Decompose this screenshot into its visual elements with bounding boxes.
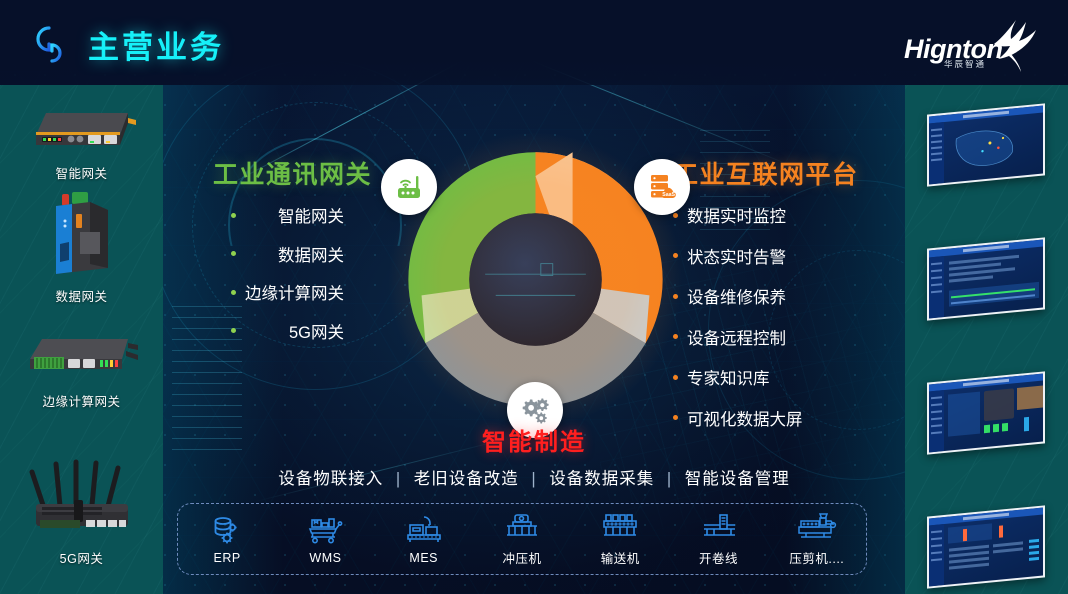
server-cloud-saas-icon: SaaS (645, 170, 679, 204)
gateway-badge-icon[interactable] (381, 159, 437, 215)
equipment-item-wms[interactable]: WMS (276, 514, 374, 565)
dashboard-content (929, 508, 1043, 587)
list-item-label: 5G网关 (245, 319, 344, 343)
5g-gateway-router-device-icon (22, 450, 142, 538)
list-item-label: 智能网关 (245, 203, 344, 227)
product-label: 数据网关 (0, 286, 163, 305)
equipment-label: MES (409, 551, 438, 565)
dashboard-titlebar (929, 240, 1043, 258)
equipment-label: 开卷线 (699, 548, 738, 567)
wifi-router-icon (392, 170, 426, 204)
logo-chinese-name: 华辰智通 (944, 58, 986, 70)
equipment-item-mes[interactable]: MES (375, 514, 473, 565)
product-image (0, 188, 163, 281)
main-content: 工业通讯网关 智能网关 数据网关 边缘计算网关 5G网关 工业互联网平台 数据实… (163, 85, 905, 594)
list-item: 状态实时告警 (673, 244, 803, 268)
saas-badge-icon[interactable]: SaaS (634, 159, 690, 215)
dashboard-content (929, 374, 1043, 453)
interlocking-circles-logo-icon (28, 23, 72, 67)
bullet-dot (231, 213, 236, 218)
header-title-group: 主营业务 (28, 22, 224, 67)
list-item: 数据网关 (231, 242, 344, 266)
product-image (0, 93, 163, 158)
smart-gateway-device-icon (24, 101, 139, 153)
dashboard-sidebar (929, 390, 944, 452)
product-item-data-gateway[interactable]: 数据网关 (0, 188, 163, 305)
production-line-icon (405, 514, 443, 548)
subtitle-separator: | (667, 470, 672, 488)
smart-manufacturing-subtitle: 设备物联接入 | 老旧设备改造 | 设备数据采集 | 智能设备管理 (163, 465, 905, 489)
svg-text:SaaS: SaaS (662, 192, 675, 198)
list-item-label: 状态实时告警 (687, 244, 786, 268)
page-title: 主营业务 (88, 22, 224, 67)
list-item: 边缘计算网关 (231, 280, 344, 304)
bullet-dot (673, 334, 678, 339)
equipment-item-uncoiler[interactable]: 开卷线 (669, 511, 767, 567)
edge-computing-gateway-device-icon (22, 329, 142, 381)
shearing-machine-icon (796, 511, 838, 545)
list-item-label: 数据实时监控 (687, 203, 786, 227)
dashboard-sidebar (929, 256, 944, 318)
equipment-icon-row: ERP WMS (177, 503, 867, 575)
dashboard-sidebar (929, 122, 944, 184)
equipment-label: 输送机 (601, 548, 640, 567)
conveyor-machine-icon (600, 511, 640, 545)
dashboard-content (929, 240, 1043, 319)
product-image (0, 329, 163, 386)
dashboard-map (947, 118, 1031, 179)
list-item-label: 专家知识库 (687, 365, 770, 389)
subtitle-item: 设备数据采集 (549, 470, 654, 488)
dashboard-map-screenshot[interactable] (927, 103, 1045, 186)
database-gear-icon (210, 514, 244, 548)
company-logo: Hignton 华辰智通 (898, 14, 1048, 74)
bullet-dot (673, 375, 678, 380)
equipment-label: 压剪机.... (789, 548, 844, 567)
equipment-item-shearing[interactable]: 压剪机.... (768, 511, 866, 567)
uncoiling-line-icon (700, 511, 738, 545)
bullet-dot (231, 328, 236, 333)
product-label: 5G网关 (0, 548, 163, 567)
sidebar-left-products: 智能网关 数据网关 (0, 85, 163, 594)
product-item-smart-gateway[interactable]: 智能网关 (0, 93, 163, 182)
bullet-dot (673, 213, 678, 218)
subtitle-item: 设备物联接入 (278, 470, 383, 488)
smart-manufacturing-title: 智能制造 (163, 422, 905, 457)
subtitle-item: 老旧设备改造 (414, 470, 519, 488)
list-item: 设备维修保养 (673, 284, 803, 308)
product-label: 智能网关 (0, 163, 163, 182)
product-label: 边缘计算网关 (0, 391, 163, 410)
list-item: 设备远程控制 (673, 325, 803, 349)
list-item: 5G网关 (231, 319, 344, 343)
list-item-label: 数据网关 (245, 242, 344, 266)
stamping-machine-icon (503, 511, 541, 545)
list-item-label: 设备维修保养 (687, 284, 786, 308)
bullet-dot (231, 290, 236, 295)
sidebar-right-dashboards (905, 85, 1068, 594)
equipment-label: ERP (214, 551, 241, 565)
list-item-label: 设备远程控制 (687, 325, 786, 349)
dashboard-titlebar (929, 508, 1043, 526)
dashboard-table-screenshot[interactable] (927, 237, 1045, 320)
data-gateway-device-icon (42, 188, 122, 276)
subtitle-separator: | (396, 470, 401, 488)
left-column-title: 工业通讯网关 (213, 155, 372, 191)
product-image (0, 450, 163, 543)
right-column-title: 工业互联网平台 (673, 155, 859, 191)
dashboard-device-screenshot[interactable] (927, 371, 1045, 454)
business-cycle-donut-chart: SaaS (403, 147, 668, 412)
equipment-item-stamping[interactable]: 冲压机 (473, 511, 571, 567)
equipment-label: 冲压机 (502, 548, 541, 567)
right-column-list: 数据实时监控 状态实时告警 设备维修保养 设备远程控制 专家知识库 可视化数据大… (673, 203, 803, 446)
list-item: 专家知识库 (673, 365, 803, 389)
dashboard-report-screenshot[interactable] (927, 505, 1045, 588)
header-bar: 主营业务 Hignton 华辰智通 (0, 0, 1068, 85)
equipment-item-erp[interactable]: ERP (178, 514, 276, 565)
product-item-edge-gateway[interactable]: 边缘计算网关 (0, 329, 163, 410)
subtitle-item: 智能设备管理 (685, 470, 790, 488)
dashboard-content (929, 106, 1043, 185)
bullet-dot (231, 251, 236, 256)
list-item-label: 边缘计算网关 (245, 280, 344, 304)
warehouse-cart-icon (307, 514, 343, 548)
list-item: 智能网关 (231, 203, 344, 227)
left-column-list: 智能网关 数据网关 边缘计算网关 5G网关 (231, 203, 344, 357)
subtitle-separator: | (531, 470, 536, 488)
equipment-label: WMS (309, 551, 341, 565)
list-item: 数据实时监控 (673, 203, 803, 227)
equipment-item-conveyor[interactable]: 输送机 (571, 511, 669, 567)
bullet-dot (673, 415, 678, 420)
product-item-5g-gateway[interactable]: 5G网关 (0, 450, 163, 567)
dashboard-sidebar (929, 524, 944, 586)
